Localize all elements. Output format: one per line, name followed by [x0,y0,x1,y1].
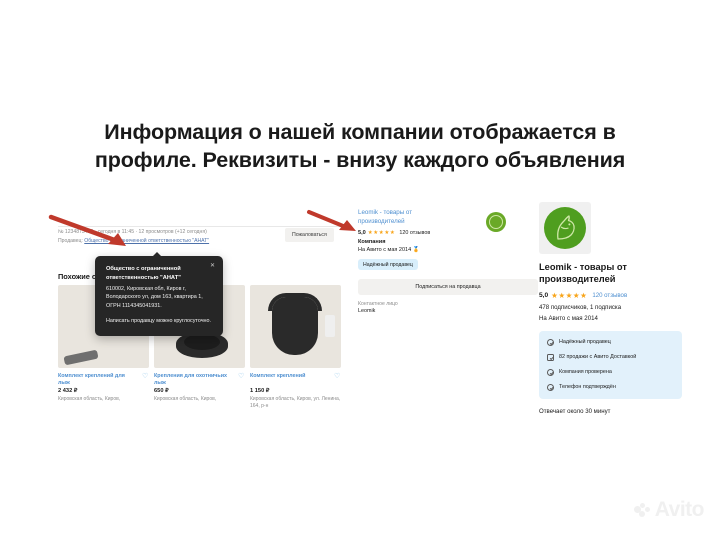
badge-label: Надёжный продавец [559,339,611,345]
product-price: 2 432 ₽ [58,388,149,394]
subscribers-count: 478 подписчиков, 1 подписка [539,304,682,311]
list-item: 82 продажи с Авито Доставкой [539,350,682,365]
product-price: 1 150 ₽ [250,388,341,394]
company-since: На Авито с мая 2014 [539,315,682,322]
badge-label: 82 продажи с Авито Доставкой [559,354,636,360]
list-item[interactable]: Комплект креплений ♡ 1 150 ₽ Кировская о… [250,285,341,409]
rating-value: 5,0 [539,292,548,299]
company-logo [539,202,591,254]
avito-screenshot: № 1234873402 · сегодня в 11:45 · 12 прос… [56,200,682,500]
list-item: Надёжный продавец [539,335,682,350]
subscribe-button[interactable]: Подписаться на продавца [358,279,538,295]
product-title-link[interactable]: Комплект креплений [250,373,326,380]
tooltip-heading: Общество с ограниченной ответственностью… [106,265,212,283]
legal-info-tooltip: ✕ Общество с ограниченной ответственност… [95,256,223,336]
delivery-box-icon [547,354,554,361]
headline-line-2: профиле. Реквизиты - внизу каждого объяв… [95,148,625,172]
list-item: Телефон подтверждён [539,380,682,395]
slide-root: Информация о нашей компании отображается… [0,0,720,540]
annotation-arrow-right [306,209,368,235]
product-price: 650 ₽ [154,388,245,394]
reply-time-note: Отвечает около 30 минут [539,408,682,415]
avito-watermark: Avito [634,498,704,522]
badge-label: Компания проверена [559,369,612,375]
page-title: Информация о нашей компании отображается… [36,118,684,175]
product-location: Кировская область, Киров, [154,396,245,403]
medal-icon: 🏅 [413,247,420,253]
contact-person-name: Leomik [358,308,538,314]
company-name: Leomik - товары от производителей [539,262,682,286]
star-rating-icon: ★★★★★ [368,230,396,236]
favorite-heart-icon[interactable]: ♡ [334,373,341,380]
star-rating-icon: ★★★★★ [551,291,587,300]
seller-type: Компания [358,239,538,245]
seller-since: На Авито с мая 2014 🏅 [358,247,538,253]
headline-line-1: Информация о нашей компании отображается… [104,120,615,144]
list-item: Компания проверена [539,365,682,380]
product-title-link[interactable]: Комплект креплений для лыж [58,373,134,386]
reviews-count-link[interactable]: 120 отзывов [399,230,430,236]
avito-watermark-text: Avito [655,498,704,522]
favorite-heart-icon[interactable]: ♡ [238,373,245,380]
product-title-link[interactable]: Крепления для охотничьих лыж [154,373,230,386]
check-circle-icon [547,339,554,346]
status-badge: Надёжный продавец [358,259,418,270]
product-thumbnail[interactable] [250,285,341,368]
verified-green-avatar [486,212,506,232]
badge-label: Телефон подтверждён [559,384,616,390]
horse-head-icon [552,214,578,241]
seller-summary-panel: Leomik - товары от производителей 5,0 ★★… [358,208,538,314]
seller-rating-row: 5,0 ★★★★★ 120 отзывов [358,230,538,236]
product-location: Кировская область, Киров, ул. Ленина, 16… [250,396,341,409]
annotation-arrow-left [48,214,140,250]
company-profile-card: Leomik - товары от производителей 5,0 ★★… [539,202,682,415]
check-circle-icon [547,369,554,376]
contact-person-label: Контактное лицо [358,301,538,307]
product-location: Кировская область, Киров, [58,396,149,403]
reviews-count-link[interactable]: 120 отзывов [592,292,627,299]
favorite-heart-icon[interactable]: ♡ [142,373,149,380]
tooltip-note: Написать продавцу можно круглосуточно. [106,317,212,326]
tooltip-address: 610002, Кировская обл, Киров г, Володарс… [106,285,212,311]
trust-badges-list: Надёжный продавец 82 продажи с Авито Дос… [539,331,682,399]
seller-name-link[interactable]: Leomik - товары от производителей [358,208,430,227]
check-circle-icon [547,384,554,391]
close-icon[interactable]: ✕ [210,263,215,269]
company-rating-row: 5,0 ★★★★★ 120 отзывов [539,291,682,300]
avito-logo-icon [634,503,651,518]
